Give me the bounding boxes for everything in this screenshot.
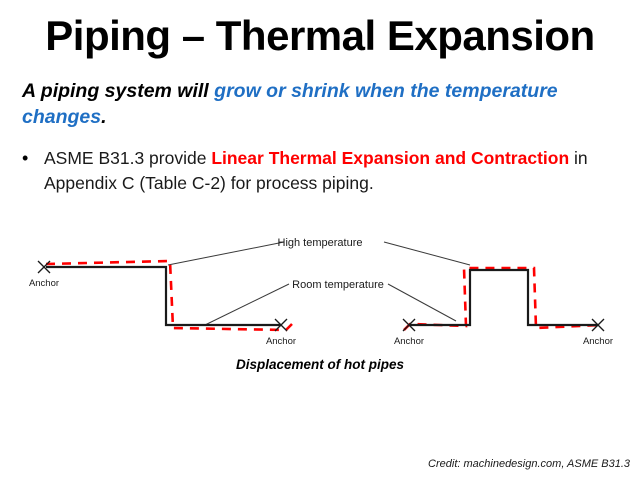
slide-subtitle: A piping system will grow or shrink when… bbox=[22, 78, 626, 130]
figure-caption: Displacement of hot pipes bbox=[0, 357, 640, 372]
bullet-text: ASME B31.3 provide Linear Thermal Expans… bbox=[44, 146, 628, 196]
label-room-temperature: Room temperature bbox=[292, 279, 384, 291]
bullet-text-before: ASME B31.3 provide bbox=[44, 148, 211, 168]
cold-pipe-path bbox=[46, 267, 598, 325]
anchor-markers bbox=[38, 261, 604, 331]
credit-line: Credit: machinedesign.com, ASME B31.3 bbox=[428, 458, 630, 470]
slide-canvas: Piping – Thermal Expansion A piping syst… bbox=[0, 0, 640, 480]
bullet-list-item: • ASME B31.3 provide Linear Thermal Expa… bbox=[22, 146, 628, 196]
page-title: Piping – Thermal Expansion bbox=[0, 12, 640, 60]
label-high-temperature: High temperature bbox=[278, 237, 363, 249]
bullet-text-emphasis: Linear Thermal Expansion and Contraction bbox=[211, 148, 569, 168]
anchor-label: Anchor bbox=[583, 336, 613, 347]
anchor-label: Anchor bbox=[29, 278, 59, 289]
anchor-label: Anchor bbox=[266, 336, 296, 347]
subtitle-tail: . bbox=[101, 106, 106, 128]
subtitle-lead: A piping system will bbox=[22, 80, 214, 102]
bullet-marker-icon: • bbox=[22, 146, 44, 171]
anchor-label: Anchor bbox=[394, 336, 424, 347]
hot-pipe-path bbox=[46, 261, 600, 330]
